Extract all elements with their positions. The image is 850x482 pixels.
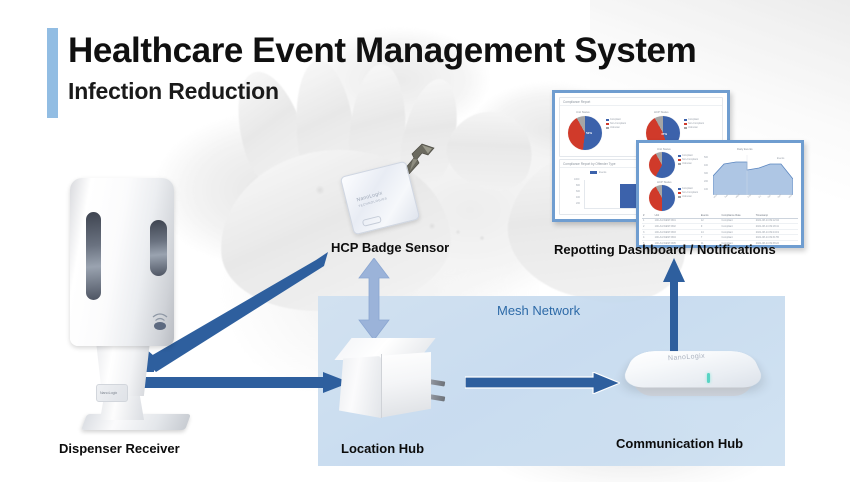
arrow-badge-location-bidirectional (358, 258, 390, 340)
pie-chart-hcp-status-small[interactable] (649, 185, 675, 211)
legend-label: Unknown (610, 126, 620, 129)
column-header: # (642, 214, 654, 217)
y-tick: 100 (704, 188, 708, 191)
legend-swatch (606, 127, 609, 129)
legend-label: Non-Compliant (610, 122, 626, 125)
cell-timestamp: 2021-08-14 09:31:55 (755, 236, 798, 239)
cell-unit: 100-A4-WEST-B01 (654, 219, 700, 222)
legend-label: Unknown (682, 162, 692, 165)
dispenser-brand-text: NanoLogix (100, 390, 117, 395)
cell-events: 12 (700, 219, 721, 222)
pie-legend: Compliant Non-Compliant Unknown (678, 187, 698, 198)
y-tick: 300 (704, 172, 708, 175)
dispenser-sensor-icon (150, 310, 170, 332)
x-tick-label: Mon (788, 193, 793, 198)
legend-swatch (678, 159, 681, 161)
location-hub-side-face (379, 352, 431, 418)
label-hcp-badge-sensor: HCP Badge Sensor (331, 240, 449, 255)
legend-swatch (678, 155, 681, 157)
pie-title: Unit Status (576, 110, 590, 114)
label-communication-hub: Communication Hub (616, 436, 743, 451)
pie-legend: Compliant Non-Compliant Unknown (606, 118, 626, 129)
legend-swatch (678, 196, 681, 198)
cell-events: 7 (700, 236, 721, 239)
legend-label: Non-Compliant (682, 158, 698, 161)
cell-unit: 100-A4-WEST-B03 (654, 231, 700, 234)
area-chart-title: Daily Events (737, 147, 753, 151)
status-led-indicator (707, 373, 710, 383)
x-tick-label: Sat (767, 194, 772, 199)
cell-events: 14 (700, 231, 721, 234)
cell-index: 4 (642, 236, 654, 239)
pie-title: Unit Status (657, 147, 671, 151)
x-tick-label: Sun (777, 194, 782, 199)
x-tick-label: Fri (758, 195, 762, 199)
legend-label: Unknown (688, 126, 698, 129)
y-tick: 600 (576, 190, 580, 193)
legend-swatch (606, 119, 609, 121)
y-tick: 400 (704, 164, 708, 167)
badge-lanyard-slot (362, 215, 382, 226)
y-tick: 500 (704, 156, 708, 159)
cell-timestamp: 2021-08-14 09:18:41 (755, 225, 798, 228)
device-communication-hub: NanoLogix (620, 336, 770, 432)
section-title: Compliance Report (563, 100, 590, 104)
arrow-location-to-communication-hub (465, 372, 620, 394)
dispenser-body (70, 178, 174, 346)
cell-compliance: Compliant (721, 231, 755, 234)
legend-label: Compliant (682, 187, 693, 190)
pie-title: HCP Status (657, 180, 672, 184)
mesh-network-label: Mesh Network (497, 303, 580, 318)
legend-label: Compliant (682, 154, 693, 157)
pie-title: HCP Status (654, 110, 669, 114)
y-tick: 400 (576, 196, 580, 199)
y-tick: 200 (576, 202, 580, 205)
area-chart-daily-events[interactable]: Daily Events Events 500 400 300 200 100 … (703, 147, 797, 209)
legend-swatch (684, 127, 687, 129)
bar-legend-label: Events (599, 171, 606, 174)
legend-swatch (678, 188, 681, 190)
pie-legend: Compliant Non-Compliant Unknown (678, 154, 698, 165)
legend-label: Compliant (688, 118, 699, 121)
title-accent-bar (47, 28, 58, 118)
device-location-hub (337, 336, 461, 436)
x-tick-label: Thu (747, 194, 752, 199)
location-hub-front-face (339, 356, 381, 418)
legend-swatch (606, 123, 609, 125)
legend-label: Compliant (610, 118, 621, 121)
label-dispenser-receiver: Dispenser Receiver (59, 441, 180, 456)
legend-label: Non-Compliant (682, 191, 698, 194)
pie-data-label: 47% (661, 132, 667, 136)
x-tick-label: Mon (713, 193, 718, 198)
cell-compliance: Compliant (721, 236, 755, 239)
label-location-hub: Location Hub (341, 441, 424, 456)
slide-canvas: Healthcare Event Management System Infec… (0, 0, 850, 482)
dispenser-brand-plate: NanoLogix (96, 384, 128, 402)
legend-label: Non-Compliant (688, 122, 704, 125)
dispenser-window-right (150, 220, 167, 276)
device-hcp-badge-sensor: NanoLogix TECHNOLOGIES (340, 142, 460, 238)
dashboard-card-daily-events[interactable]: Unit Status Compliant Non-Compliant Unkn… (636, 140, 804, 248)
cell-unit: 100-A4-WEST-B04 (654, 236, 700, 239)
cell-timestamp: 2021-08-14 09:24:19 (755, 231, 798, 234)
legend-swatch (684, 119, 687, 121)
label-reporting-dashboard: Repotting Dashboard / Notifications (554, 242, 776, 257)
cell-events: 9 (700, 225, 721, 228)
column-header: Compliance Rate (721, 214, 755, 217)
location-hub-seam (381, 354, 382, 418)
section-title: Compliance Report by Offender Type (563, 162, 616, 166)
cell-compliance: Compliant (721, 219, 755, 222)
x-tick-label: Wed (735, 193, 740, 199)
badge-card-body: NanoLogix TECHNOLOGIES (340, 161, 420, 236)
x-tick-label: Tue (724, 194, 729, 199)
section-divider (560, 105, 722, 106)
y-tick: 200 (704, 180, 708, 183)
y-axis-line (584, 180, 585, 208)
y-tick: 800 (576, 184, 580, 187)
page-title: Healthcare Event Management System (68, 31, 696, 71)
legend-swatch (678, 163, 681, 165)
cell-unit: 100-A4-WEST-B02 (654, 225, 700, 228)
legend-swatch (684, 123, 687, 125)
cell-timestamp: 2021-08-14 09:12:04 (755, 219, 798, 222)
column-header: Unit (654, 214, 700, 217)
column-header: Events (700, 214, 721, 217)
y-tick: 1000 (574, 178, 579, 181)
badge-brand-logo: NanoLogix TECHNOLOGIES (356, 185, 404, 211)
bar-legend-swatch (590, 171, 597, 174)
cell-index: 2 (642, 225, 654, 228)
pie-chart-unit-status[interactable] (568, 116, 602, 150)
pie-data-label: 52% (586, 131, 592, 135)
legend-label: Unknown (682, 195, 692, 198)
page-subtitle: Infection Reduction (68, 78, 279, 105)
cell-index: 1 (642, 219, 654, 222)
dispenser-window-left (86, 212, 101, 300)
area-x-axis-labels: Mon Tue Wed Thu Fri Sat Sun Mon (713, 197, 793, 200)
legend-swatch (678, 192, 681, 194)
cell-compliance: Compliant (721, 225, 755, 228)
pie-legend: Compliant Non-Compliant Unknown (684, 118, 704, 129)
cell-index: 3 (642, 231, 654, 234)
pie-chart-unit-status-small[interactable] (649, 152, 675, 178)
column-header: Timestamp (755, 214, 798, 217)
device-dispenser-receiver: NanoLogix (62, 178, 190, 428)
area-chart-plot (713, 155, 793, 195)
